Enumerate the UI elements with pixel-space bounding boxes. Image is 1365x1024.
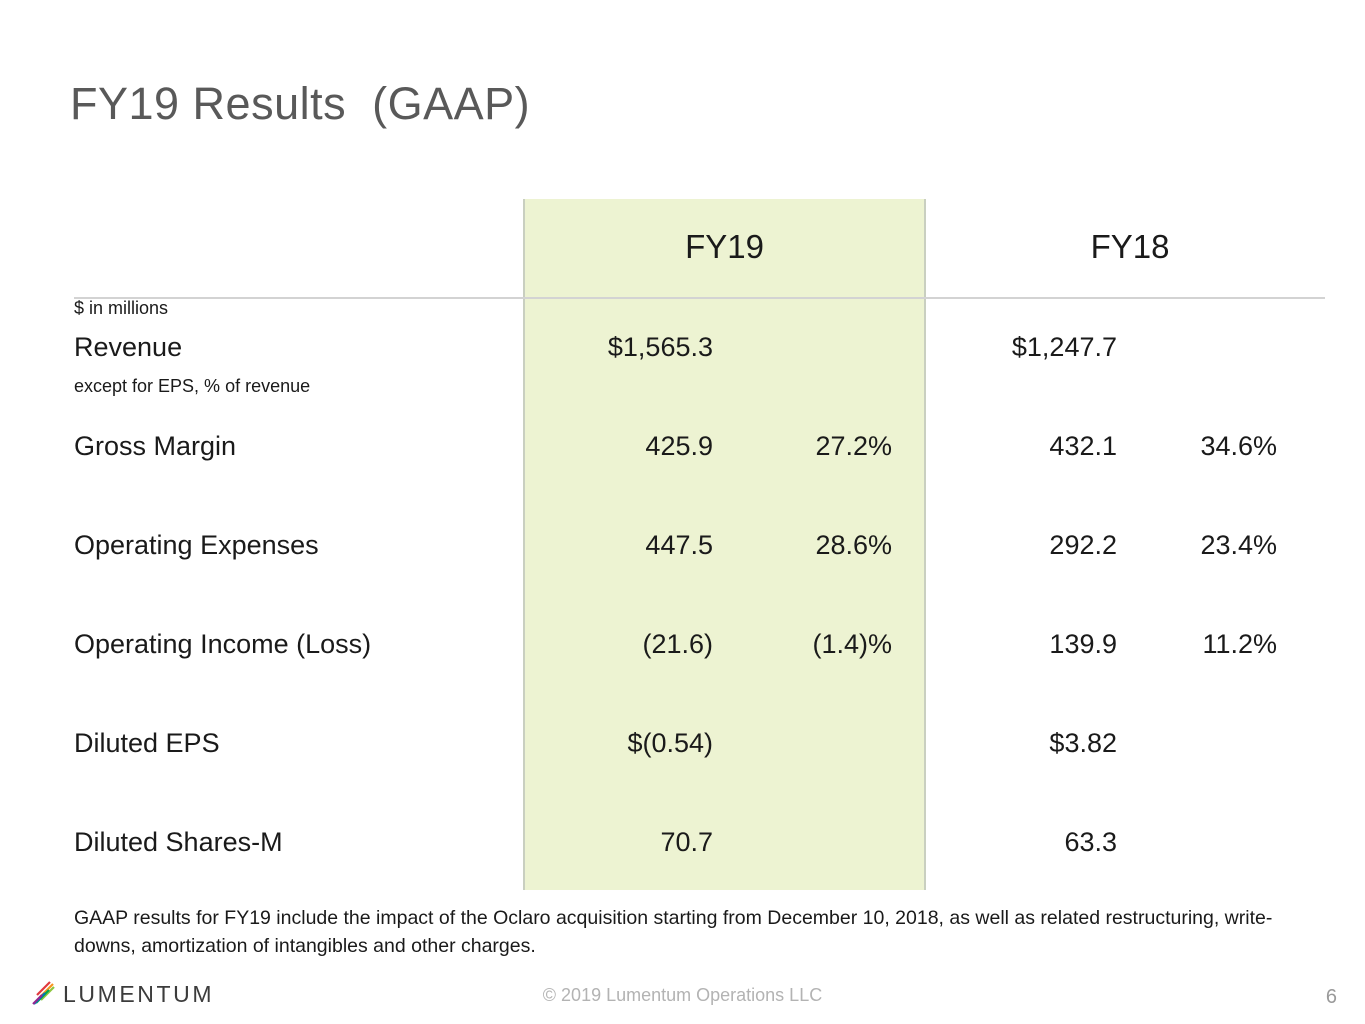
row-label-operating-expenses: Operating Expenses xyxy=(74,530,319,561)
row-label-diluted-shares: Diluted Shares-M xyxy=(74,827,283,858)
cell-diluted-shares-fy19-amount: 70.7 xyxy=(430,827,713,858)
cell-gross-margin-fy18-percent: 34.6% xyxy=(1110,431,1277,462)
cell-gross-margin-fy18-amount: 432.1 xyxy=(840,431,1117,462)
cell-gross-margin-fy19-amount: 425.9 xyxy=(430,431,713,462)
cell-operating-income-fy19-amount: (21.6) xyxy=(430,629,713,660)
cell-operating-income-fy18-amount: 139.9 xyxy=(840,629,1117,660)
page-title: FY19 Results (GAAP) xyxy=(70,78,530,130)
cell-operating-expenses-fy19-amount: 447.5 xyxy=(430,530,713,561)
cell-operating-income-fy18-percent: 11.2% xyxy=(1110,629,1277,660)
cell-revenue-fy18-amount: $1,247.7 xyxy=(840,332,1117,363)
copyright-text: © 2019 Lumentum Operations LLC xyxy=(0,985,1365,1006)
cell-revenue-fy19-amount: $1,565.3 xyxy=(430,332,713,363)
footnote: GAAP results for FY19 include the impact… xyxy=(74,904,1284,960)
row-label-revenue: Revenue xyxy=(74,332,182,363)
column-header-fy19: FY19 xyxy=(523,228,926,266)
cell-diluted-eps-fy18-amount: $3.82 xyxy=(840,728,1117,759)
units-note-line-2: except for EPS, % of revenue xyxy=(74,373,310,399)
units-note-line-1: $ in millions xyxy=(74,295,310,321)
cell-diluted-shares-fy18-amount: 63.3 xyxy=(840,827,1117,858)
row-label-operating-income: Operating Income (Loss) xyxy=(74,629,371,660)
cell-operating-expenses-fy18-amount: 292.2 xyxy=(840,530,1117,561)
row-label-diluted-eps: Diluted EPS xyxy=(74,728,220,759)
cell-diluted-eps-fy19-amount: $(0.54) xyxy=(430,728,713,759)
column-header-fy18: FY18 xyxy=(930,228,1330,266)
cell-operating-expenses-fy18-percent: 23.4% xyxy=(1110,530,1277,561)
row-label-gross-margin: Gross Margin xyxy=(74,431,236,462)
page-number: 6 xyxy=(1326,986,1337,1009)
